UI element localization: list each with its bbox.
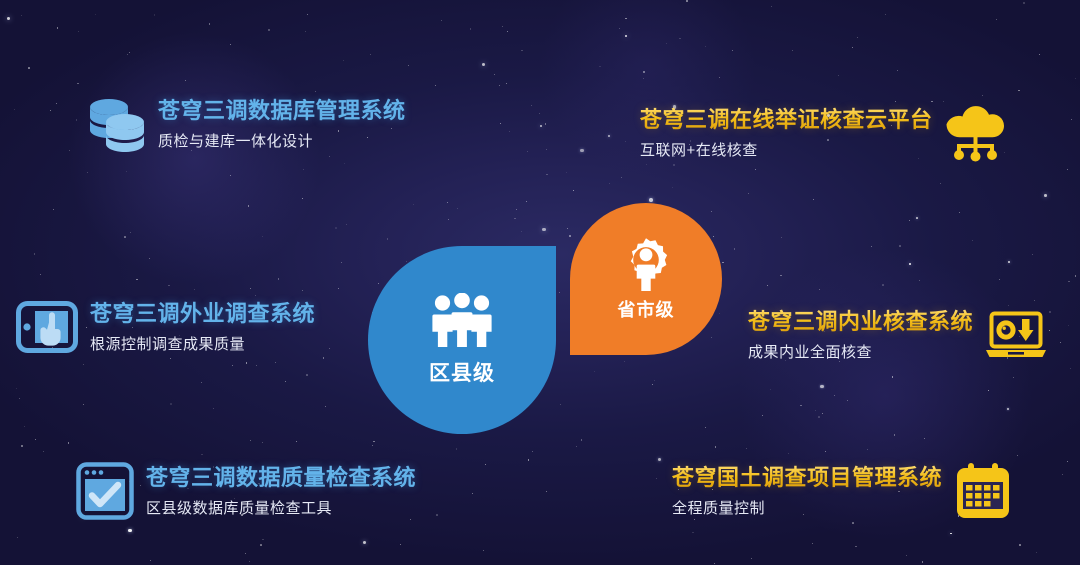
window-check-icon [76,462,134,520]
people-group-icon [431,293,493,351]
cloud-network-icon [945,104,1007,162]
node-district-county-label: 区县级 [429,357,495,387]
product-field-survey-text: 苍穹三调外业调查系统 根源控制调查成果质量 [90,300,315,354]
product-indoor-review-text: 苍穹三调内业核查系统 成果内业全面核查 [748,308,973,362]
product-field-survey[interactable]: 苍穹三调外业调查系统 根源控制调查成果质量 [16,300,315,354]
tablet-touch-icon [16,301,78,353]
product-data-quality-check-text: 苍穹三调数据质量检查系统 区县级数据库质量检查工具 [146,464,416,518]
calendar-icon [954,462,1012,520]
product-online-evidence-cloud[interactable]: 苍穹三调在线举证核查云平台 互联网+在线核查 [640,104,1007,162]
product-title: 苍穹三调数据质量检查系统 [146,465,416,490]
product-subtitle: 成果内业全面核查 [748,343,973,362]
product-online-evidence-cloud-text: 苍穹三调在线举证核查云平台 互联网+在线核查 [640,106,933,160]
product-subtitle: 质检与建库一体化设计 [158,132,406,151]
product-project-management-text: 苍穹国土调查项目管理系统 全程质量控制 [672,464,942,518]
node-province-city[interactable]: 省市级 [570,203,722,355]
product-project-management[interactable]: 苍穹国土调查项目管理系统 全程质量控制 [672,462,1012,520]
product-subtitle: 区县级数据库质量检查工具 [146,499,416,518]
product-subtitle: 互联网+在线核查 [640,141,933,160]
node-district-county[interactable]: 区县级 [368,246,556,434]
product-database-management-text: 苍穹三调数据库管理系统 质检与建库一体化设计 [158,97,406,151]
product-title: 苍穹三调外业调查系统 [90,301,315,326]
product-indoor-review[interactable]: 苍穹三调内业核查系统 成果内业全面核查 [748,308,1047,362]
product-title: 苍穹三调内业核查系统 [748,309,973,334]
infographic-canvas: 区县级 省市级 [0,0,1080,565]
product-subtitle: 根源控制调查成果质量 [90,335,315,354]
person-in-gear-icon [619,236,673,292]
product-title: 苍穹国土调查项目管理系统 [672,465,942,490]
product-subtitle: 全程质量控制 [672,499,942,518]
product-data-quality-check[interactable]: 苍穹三调数据质量检查系统 区县级数据库质量检查工具 [76,462,416,520]
laptop-review-icon [985,310,1047,360]
product-title: 苍穹三调在线举证核查云平台 [640,107,933,132]
database-stack-icon [88,96,146,152]
product-title: 苍穹三调数据库管理系统 [158,98,406,123]
product-database-management[interactable]: 苍穹三调数据库管理系统 质检与建库一体化设计 [88,96,406,152]
node-province-city-label: 省市级 [618,296,675,322]
